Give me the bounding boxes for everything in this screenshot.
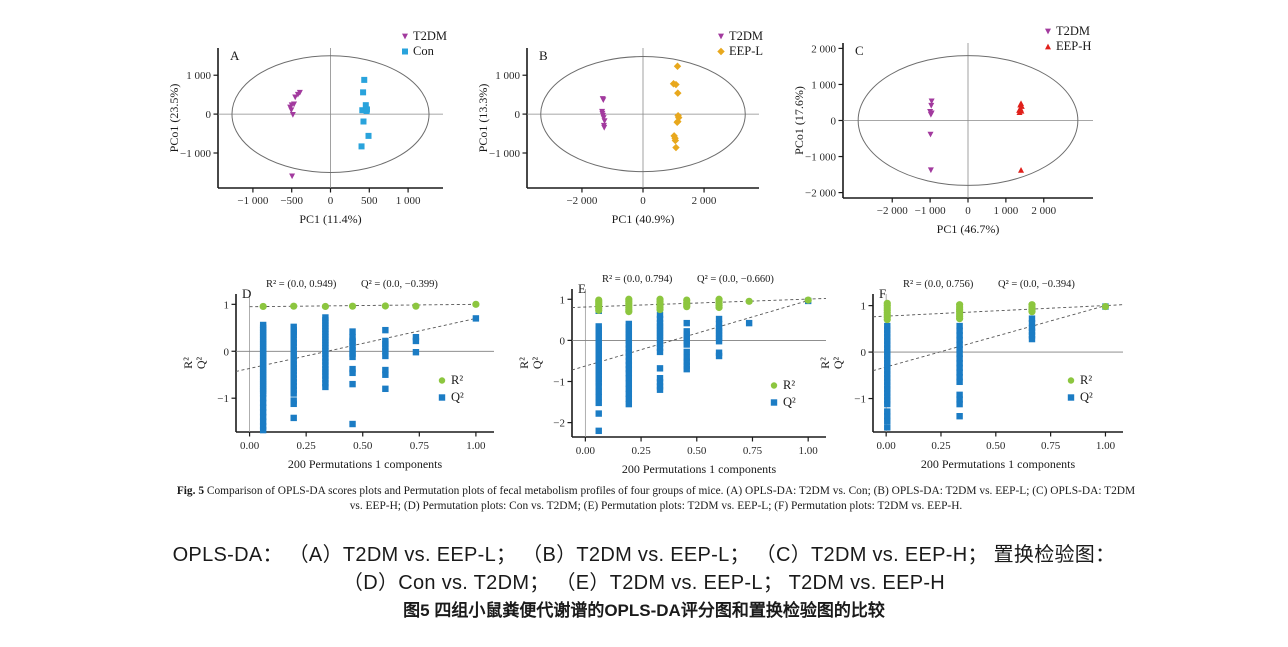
panel-letter-B: B [539, 48, 548, 63]
q2-point [382, 327, 388, 333]
x-tick-label: 0.00 [240, 440, 260, 452]
x-tick-label: 0 [640, 195, 646, 207]
panel-letter-E: E [578, 281, 586, 296]
q2-point [473, 315, 479, 321]
q2-point [684, 320, 690, 326]
legend-label: Con [413, 44, 435, 58]
x-axis-title: PC1 (11.4%) [299, 212, 361, 226]
q2-point [657, 365, 663, 371]
y-tick-label: 1 [560, 294, 566, 306]
series-EEP-H [1016, 100, 1025, 172]
data-point [600, 97, 606, 103]
data-point [360, 119, 366, 125]
x-axis-title: 200 Permutations 1 components [921, 457, 1076, 471]
legend-marker [439, 394, 445, 400]
r2-point [322, 303, 329, 310]
y-tick-label: −1 [553, 377, 565, 389]
y-tick-label: 1 [224, 299, 230, 311]
q2-point [349, 381, 355, 387]
legend-label: T2DM [413, 29, 447, 43]
y-tick-label: 0 [515, 109, 521, 121]
x-axis-title: 200 Permutations 1 components [622, 462, 777, 476]
r2-point [956, 315, 963, 322]
r2-point [683, 303, 690, 310]
legend-marker [402, 49, 408, 55]
q2-point [322, 384, 328, 390]
data-point [928, 103, 934, 109]
legend-label: T2DM [729, 29, 763, 43]
legend-marker [1045, 44, 1051, 50]
series-T2DM [599, 96, 607, 130]
legend-label: R² [783, 378, 795, 392]
y-tick-label: 0 [206, 109, 212, 121]
q2-point [596, 428, 602, 434]
y-axis-title-q2: Q² [194, 356, 208, 369]
legend-label: EEP-H [1056, 39, 1091, 53]
x-tick-label: 0.75 [410, 440, 430, 452]
x-tick-label: −2 000 [566, 195, 597, 207]
q2-point [884, 401, 890, 407]
x-tick-label: 0.25 [631, 445, 651, 457]
y-axis-title-q2: Q² [530, 356, 544, 369]
panel-C: −2 000−1 00001 0002 000−2 000−1 00001 00… [792, 24, 1093, 236]
data-point [359, 143, 365, 149]
y-axis-title-q2: Q² [831, 356, 845, 369]
q2-point [956, 379, 962, 385]
r2-point [746, 298, 753, 305]
r2-point [1102, 303, 1109, 310]
y-tick-label: −1 000 [180, 148, 211, 160]
y-axis-title-r2: R² [181, 357, 195, 369]
series-Con [359, 77, 372, 150]
q2-point [291, 415, 297, 421]
stat-q2-label: Q² = (0.0, −0.660) [697, 274, 774, 285]
data-point [674, 89, 681, 96]
r2-trend-line [250, 304, 476, 306]
q2-point [716, 338, 722, 344]
y-tick-label: 1 000 [495, 70, 520, 82]
series-Q2 [260, 314, 479, 433]
q2-point [596, 410, 602, 416]
caption-label: Fig. 5 [177, 485, 204, 497]
series-Q2 [596, 298, 812, 434]
q2-point [413, 349, 419, 355]
data-point [928, 112, 934, 118]
panel-D: 0.000.250.500.751.00−101DR² = (0.0, 0.94… [181, 279, 494, 471]
series-Q2 [884, 303, 1109, 430]
data-point [928, 132, 934, 138]
q2-point [349, 328, 355, 334]
r2-point [715, 304, 722, 311]
q2-point [291, 401, 297, 407]
y-tick-label: −1 [854, 394, 866, 406]
x-tick-label: 0.75 [743, 445, 763, 457]
legend-label: Q² [783, 395, 796, 409]
chinese-caption-line-1: OPLS-DA： （A）T2DM vs. EEP-L； （B）T2DM vs. … [0, 538, 1288, 567]
q2-point [657, 387, 663, 393]
stat-q2-label: Q² = (0.0, −0.394) [998, 279, 1075, 290]
y-tick-label: 2 000 [811, 43, 836, 55]
q2-point [956, 413, 962, 419]
r2-trend-line [873, 305, 1123, 317]
data-point [360, 89, 366, 95]
legend-marker [1068, 377, 1074, 383]
r2-point [1028, 308, 1035, 315]
x-tick-label: 0.00 [576, 445, 596, 457]
q2-point [716, 353, 722, 359]
x-tick-label: 0.25 [931, 440, 951, 452]
r2-point [412, 303, 419, 310]
legend-marker [1068, 394, 1074, 400]
panel-B: −2 00002 000−1 00001 000BPC1 (40.9%)PCo1… [476, 29, 763, 226]
q2-point [684, 366, 690, 372]
y-tick-label: 0 [861, 347, 867, 359]
y-tick-label: −1 000 [805, 152, 836, 164]
q2-point [657, 349, 663, 355]
data-point [364, 108, 370, 114]
y-axis-title-r2: R² [517, 357, 531, 369]
x-tick-label: 0.50 [353, 440, 373, 452]
q2-point [382, 386, 388, 392]
data-point [928, 167, 934, 173]
x-tick-label: −2 000 [877, 205, 908, 217]
q2-point [349, 421, 355, 427]
x-tick-label: 0 [965, 205, 971, 217]
panel-letter-C: C [855, 43, 864, 58]
y-tick-label: 1 000 [186, 70, 211, 82]
y-axis-title: PCo1 (13.3%) [476, 84, 490, 153]
legend-label: R² [451, 373, 463, 387]
q2-point [382, 372, 388, 378]
x-tick-label: 0.50 [986, 440, 1006, 452]
r2-point [382, 302, 389, 309]
q2-point [291, 390, 297, 396]
data-point [289, 173, 295, 179]
data-point [672, 144, 679, 151]
r2-point [260, 303, 267, 310]
series-T2DM [287, 90, 303, 179]
legend-label: Q² [451, 390, 464, 404]
r2-point [472, 301, 479, 308]
legend-label: R² [1080, 373, 1092, 387]
caption-text: Comparison of OPLS-DA scores plots and P… [207, 485, 1135, 512]
y-tick-label: 1 [861, 301, 867, 313]
legend-marker [771, 399, 777, 405]
x-tick-label: 0.00 [877, 440, 897, 452]
x-tick-label: 1 000 [994, 205, 1019, 217]
q2-point [884, 418, 890, 424]
stat-r2-label: R² = (0.0, 0.794) [602, 274, 673, 285]
y-tick-label: 0 [831, 116, 837, 128]
y-axis-title: PCo1 (17.6%) [792, 86, 806, 155]
q2-trend-line [572, 301, 808, 370]
x-tick-label: 500 [361, 195, 378, 207]
x-tick-label: 0.50 [687, 445, 707, 457]
q2-point [596, 400, 602, 406]
q2-point [349, 354, 355, 360]
r2-point [625, 308, 632, 315]
data-point [366, 133, 372, 139]
r2-point [656, 306, 663, 313]
figure-plots: −1 000−50005001 000−1 00001 000APC1 (11.… [0, 0, 1288, 480]
stat-r2-label: R² = (0.0, 0.756) [903, 279, 974, 290]
legend-marker [717, 48, 724, 55]
series-R2 [595, 296, 812, 316]
x-tick-label: −500 [280, 195, 303, 207]
data-point [290, 112, 296, 118]
q2-trend-line [236, 318, 476, 371]
legend-label: Q² [1080, 390, 1093, 404]
x-tick-label: 1.00 [466, 440, 486, 452]
series-R2 [884, 300, 1109, 323]
x-tick-label: −1 000 [237, 195, 268, 207]
legend-marker [1045, 29, 1051, 35]
q2-point [684, 349, 690, 355]
x-tick-label: 1.00 [1096, 440, 1116, 452]
x-axis-title: PC1 (46.7%) [937, 222, 1000, 236]
x-tick-label: 1.00 [799, 445, 819, 457]
stat-r2-label: R² = (0.0, 0.949) [266, 279, 337, 290]
x-tick-label: −1 000 [915, 205, 946, 217]
legend-marker [402, 34, 408, 40]
q2-point [884, 424, 890, 430]
y-tick-label: −1 [217, 393, 229, 405]
data-point [361, 77, 367, 83]
y-axis-title-r2: R² [818, 357, 832, 369]
r2-point [884, 316, 891, 323]
x-axis-title: PC1 (40.9%) [612, 212, 675, 226]
q2-point [956, 401, 962, 407]
legend-marker [771, 382, 777, 388]
y-tick-label: 1 000 [811, 79, 836, 91]
q2-point [413, 338, 419, 344]
legend-marker [439, 377, 445, 383]
series-EEP-L [670, 63, 683, 152]
x-tick-label: 1 000 [396, 195, 421, 207]
q2-point [260, 427, 266, 433]
x-tick-label: 0 [328, 195, 334, 207]
panel-E: 0.000.250.500.751.00−2−101ER² = (0.0, 0.… [517, 274, 826, 476]
x-tick-label: 2 000 [1031, 205, 1056, 217]
y-tick-label: −1 000 [489, 148, 520, 160]
panel-letter-D: D [242, 286, 251, 301]
y-tick-label: −2 000 [805, 188, 836, 200]
data-point [601, 125, 607, 131]
x-tick-label: 0.25 [297, 440, 317, 452]
y-tick-label: 0 [224, 346, 230, 358]
y-tick-label: −2 [553, 418, 565, 430]
panel-letter-F: F [879, 286, 886, 301]
y-axis-title: PCo1 (23.5%) [167, 84, 181, 153]
panel-A: −1 000−50005001 000−1 00001 000APC1 (11.… [167, 29, 447, 226]
series-T2DM [927, 99, 935, 174]
q2-point [684, 341, 690, 347]
stat-q2-label: Q² = (0.0, −0.399) [361, 279, 438, 290]
data-point [1018, 167, 1024, 173]
chinese-figure-title: 图5 四组小鼠粪便代谢谱的OPLS-DA评分图和置换检验图的比较 [0, 596, 1288, 621]
x-tick-label: 2 000 [692, 195, 717, 207]
legend-label: T2DM [1056, 24, 1090, 38]
q2-point [1029, 336, 1035, 342]
panel-F: 0.000.250.500.751.00−101FR² = (0.0, 0.75… [818, 279, 1123, 471]
q2-point [596, 394, 602, 400]
r2-point [805, 297, 812, 304]
r2-point [290, 303, 297, 310]
q2-point [626, 401, 632, 407]
x-tick-label: 0.75 [1041, 440, 1061, 452]
q2-point [746, 320, 752, 326]
panel-letter-A: A [230, 48, 240, 63]
chinese-caption-line-2: （D）Con vs. T2DM； （E）T2DM vs. EEP-L； T2DM… [0, 566, 1288, 595]
x-axis-title: 200 Permutations 1 components [288, 457, 443, 471]
figure-container: −1 000−50005001 000−1 00001 000APC1 (11.… [0, 0, 1288, 647]
figure-caption: Fig. 5 Comparison of OPLS-DA scores plot… [175, 484, 1137, 514]
r2-point [595, 307, 602, 314]
q2-point [382, 353, 388, 359]
r2-point [349, 303, 356, 310]
y-tick-label: 0 [560, 335, 566, 347]
legend-label: EEP-L [729, 44, 763, 58]
q2-point [349, 370, 355, 376]
data-point [674, 63, 681, 70]
legend-marker [718, 34, 724, 40]
